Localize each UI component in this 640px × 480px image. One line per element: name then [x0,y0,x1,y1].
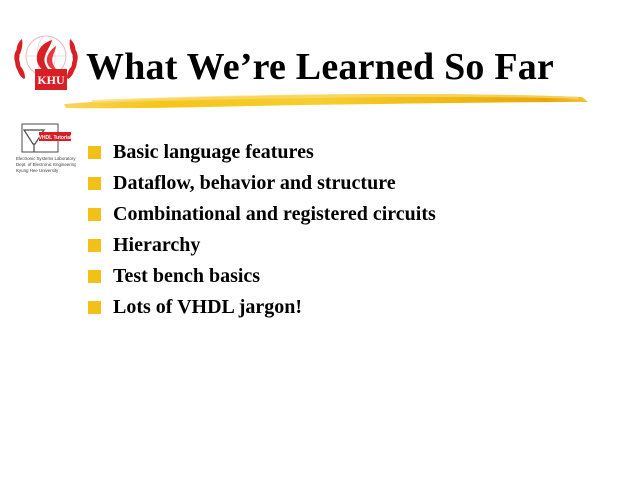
square-bullet-icon [88,239,101,252]
square-bullet-icon [88,177,101,190]
square-bullet-icon [88,301,101,314]
list-item-label: Lots of VHDL jargon! [113,296,302,318]
list-item: Dataflow, behavior and structure [88,167,608,198]
list-item: Lots of VHDL jargon! [88,291,608,322]
list-item-label: Test bench basics [113,265,260,287]
list-item-label: Hierarchy [113,234,200,256]
square-bullet-icon [88,146,101,159]
list-item: Combinational and registered circuits [88,198,608,229]
list-item: Basic language features [88,136,608,167]
square-bullet-icon [88,208,101,221]
page-title: What We’re Learned So Far [86,45,586,89]
list-item: Hierarchy [88,229,608,260]
khu-logo: KHU [12,26,80,94]
list-item-label: Dataflow, behavior and structure [113,172,396,194]
list-item: Test bench basics [88,260,608,291]
square-bullet-icon [88,270,101,283]
title-swoosh [62,88,590,114]
course-badge-text: VHDL Tutorial [39,135,72,141]
course-caption-line2: Dept. of Electronic Engineering [16,162,76,167]
list-item-label: Basic language features [113,141,314,163]
list-item-label: Combinational and registered circuits [113,203,436,225]
slide-canvas: KHU What We’re Learned So Far [0,0,640,480]
course-caption-line3: Kyung Hee University [16,168,59,173]
course-logo: VHDL Tutorial Electronic Systems Laborat… [14,122,76,178]
bullet-list: Basic language features Dataflow, behavi… [88,136,608,322]
course-caption-line1: Electronic Systems Laboratory [16,156,76,161]
khu-banner-text: KHU [37,73,65,87]
